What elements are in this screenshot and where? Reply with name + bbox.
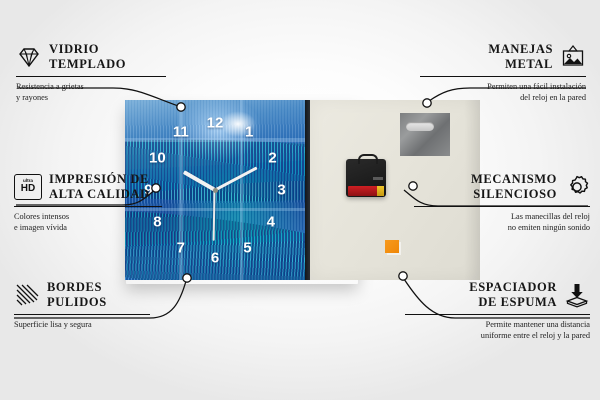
callout-manejas-metal: MANEJAS METAL Permiten una fácil instala…	[420, 42, 586, 103]
callout-title: MANEJAS METAL	[488, 42, 553, 72]
callout-rule	[414, 206, 590, 207]
callout-impresion-alta-calidad: ultra HD IMPRESIÓN DE ALTA CALIDAD Color…	[14, 172, 162, 233]
gear-icon	[564, 174, 590, 200]
callout-header: VIDRIO TEMPLADO	[16, 42, 166, 72]
mechanism-detail	[373, 177, 383, 180]
callout-header: ultra HD IMPRESIÓN DE ALTA CALIDAD	[14, 172, 162, 202]
metal-hanger-plate	[400, 113, 450, 156]
clock-numeral-6: 6	[211, 251, 219, 266]
clock-numeral-10: 10	[149, 150, 166, 165]
infographic-canvas: 12 1 2 3 4 5 6 7 8 9 10 11	[0, 0, 600, 400]
grid-line-horizontal-1	[125, 138, 305, 142]
clock-numeral-2: 2	[268, 150, 276, 165]
callout-rule	[405, 314, 590, 315]
clock-numeral-4: 4	[267, 215, 275, 230]
foam-spacer-icon	[564, 282, 590, 308]
callout-mecanismo-silencioso: MECANISMO SILENCIOSO Las manecillas del …	[414, 172, 590, 233]
polished-edges-icon	[14, 282, 40, 308]
clock-numeral-3: 3	[277, 183, 285, 198]
callout-bordes-pulidos: BORDES PULIDOS Superficie lisa y segura	[14, 280, 150, 330]
callout-title: IMPRESIÓN DE ALTA CALIDAD	[49, 172, 150, 202]
callout-header: ESPACIADOR DE ESPUMA	[405, 280, 590, 310]
clock-numeral-7: 7	[177, 240, 185, 255]
clock-numeral-12: 12	[207, 116, 224, 131]
hanging-frame-icon	[560, 44, 586, 70]
clock-numeral-1: 1	[245, 125, 253, 140]
callout-title: MECANISMO SILENCIOSO	[471, 172, 557, 202]
callout-rule	[16, 76, 166, 77]
clock-center-pin	[213, 188, 218, 193]
quartz-mechanism	[346, 159, 386, 197]
mechanism-loop	[358, 154, 378, 164]
callout-vidrio-templado: VIDRIO TEMPLADO Resistencia a grietas y …	[16, 42, 166, 103]
callout-title: VIDRIO TEMPLADO	[49, 42, 126, 72]
callout-espaciador-de-espuma: ESPACIADOR DE ESPUMA Permite mantener un…	[405, 280, 590, 341]
callout-header: MECANISMO SILENCIOSO	[414, 172, 590, 202]
ultra-hd-icon: ultra HD	[14, 174, 42, 200]
clock-numeral-5: 5	[243, 240, 251, 255]
callout-rule	[14, 206, 162, 207]
battery-terminal	[377, 186, 384, 196]
hanger-slot	[406, 122, 434, 131]
foam-spacer	[385, 240, 399, 253]
callout-title: ESPACIADOR DE ESPUMA	[469, 280, 557, 310]
battery	[348, 186, 379, 196]
callout-rule	[420, 76, 586, 77]
clock-numeral-11: 11	[173, 125, 189, 140]
callout-rule	[14, 314, 150, 315]
callout-title: BORDES PULIDOS	[47, 280, 107, 310]
callout-header: MANEJAS METAL	[420, 42, 586, 72]
callout-header: BORDES PULIDOS	[14, 280, 150, 310]
diamond-icon	[16, 44, 42, 70]
